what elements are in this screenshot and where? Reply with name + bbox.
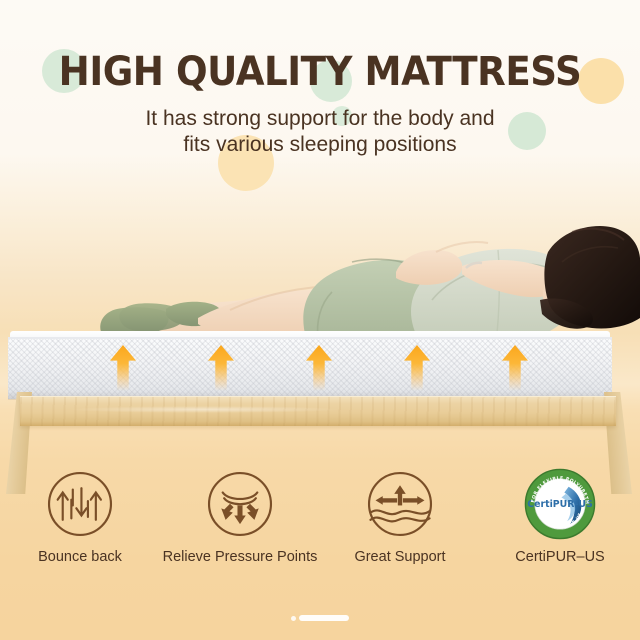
- subtitle-line-1: It has strong support for the body and: [0, 106, 640, 132]
- feature-certipur-us[interactable]: CertiPUR-US CERTIFIED FOR FLEXIBLE POLYU…: [480, 468, 640, 566]
- feature-great-support[interactable]: Great Support: [320, 468, 480, 566]
- scroll-dot[interactable]: [291, 616, 296, 621]
- feature-label: CertiPUR–US: [480, 549, 640, 566]
- great-support-icon: [364, 468, 436, 540]
- feature-bounce-back[interactable]: Bounce back: [0, 468, 160, 566]
- feature-label: Relieve Pressure Points: [160, 549, 320, 566]
- wooden-bed-frame-rail: [20, 396, 616, 426]
- subtitle-line-2: fits various sleeping positions: [0, 132, 640, 158]
- page-title: HIGH QUALITY MATTRESS: [22, 52, 617, 92]
- memory-foam-mattress: [8, 337, 612, 399]
- feature-label: Bounce back: [0, 549, 160, 566]
- feature-list: Bounce back: [0, 468, 640, 566]
- carousel-scroll-indicator[interactable]: [291, 615, 349, 621]
- product-infographic: HIGH QUALITY MATTRESS It has strong supp…: [0, 0, 640, 640]
- feature-label: Great Support: [320, 549, 480, 566]
- certipur-us-badge-icon: CertiPUR-US CERTIFIED FOR FLEXIBLE POLYU…: [524, 468, 596, 540]
- certipur-us-badge-wrap: CertiPUR-US CERTIFIED FOR FLEXIBLE POLYU…: [524, 468, 596, 540]
- relieve-pressure-points-icon: [204, 468, 276, 540]
- svg-text:CertiPUR-US: CertiPUR-US: [527, 499, 593, 510]
- bounce-back-icon: [44, 468, 116, 540]
- feature-relieve-pressure-points[interactable]: Relieve Pressure Points: [160, 468, 320, 566]
- header-block: HIGH QUALITY MATTRESS It has strong supp…: [0, 0, 640, 157]
- subtitle: It has strong support for the body and f…: [0, 106, 640, 157]
- scroll-thumb[interactable]: [299, 615, 349, 621]
